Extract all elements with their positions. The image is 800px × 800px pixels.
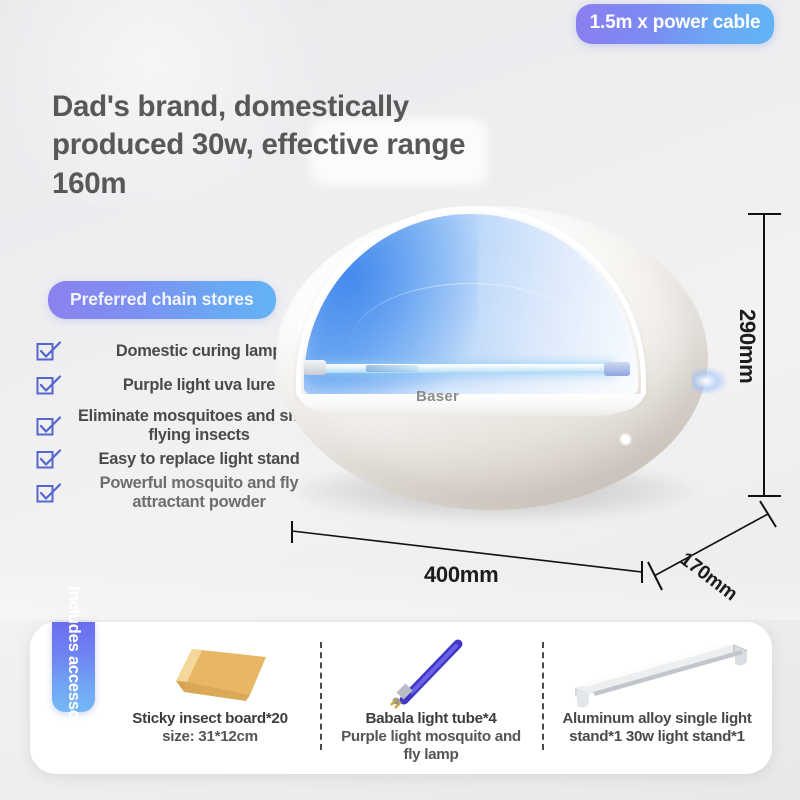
accessory-item-light-stand: Aluminum alloy single light stand*1 30w … [542,622,772,774]
power-cable-badge-label: 1.5m x power cable [590,12,761,33]
product-edge-flare [692,368,726,394]
preferred-chain-stores-badge: Preferred chain stores [48,281,276,319]
product-image: Baser [268,196,718,546]
checkbox-check-icon [36,482,62,506]
uv-light-tube [314,364,614,373]
preferred-chain-stores-label: Preferred chain stores [70,289,254,309]
depth-tick-far [760,501,776,527]
accessory-title: Sticky insect board*20 [132,710,287,727]
accessory-subtitle: stand*1 30w light stand*1 [562,728,751,746]
width-dimension-label: 400mm [424,562,498,588]
checkbox-check-icon [36,448,62,472]
light-tube-left-cap [304,360,326,375]
product-marketing-image: 1.5m x power cable Dad's brand, domestic… [0,0,800,800]
light-tube-art [376,634,486,710]
power-cable-badge: 1.5m x power cable [576,4,774,44]
light-tube-right-cap [604,362,630,376]
accessory-title: Babala light tube*4 [365,710,496,727]
accessory-item-light-tube: Babala light tube*4 Purple light mosquit… [320,622,542,774]
product-shelf [298,394,644,416]
product-brand-name: Baser [416,388,459,405]
checkbox-check-icon [36,415,62,439]
height-dimension-label: 290mm [734,309,760,383]
accessory-subtitle: Purple light mosquito and [341,728,521,746]
checkbox-check-icon [36,374,62,398]
sticky-board-art [146,634,274,710]
accessory-item-sticky-board: Sticky insect board*20 size: 31*12cm [30,622,320,774]
accessory-subtitle: size: 31*12cm [132,728,287,746]
accessories-columns: Sticky insect board*20 size: 31*12cm Bab… [30,622,772,774]
accessory-caption: Babala light tube*4 Purple light mosquit… [341,710,521,765]
product-specular-highlight [620,434,631,445]
checkbox-check-icon [36,340,62,364]
light-stand-art [557,634,757,710]
accessory-caption: Sticky insect board*20 size: 31*12cm [132,710,287,746]
headline: Dad's brand, domestically produced 30w, … [52,88,472,203]
accessory-subtitle-2: fly lamp [341,746,521,764]
accessory-title: Aluminum alloy single light [562,710,751,728]
light-tube-label [366,365,418,372]
accessory-caption: Aluminum alloy single light stand*1 30w … [562,710,751,746]
